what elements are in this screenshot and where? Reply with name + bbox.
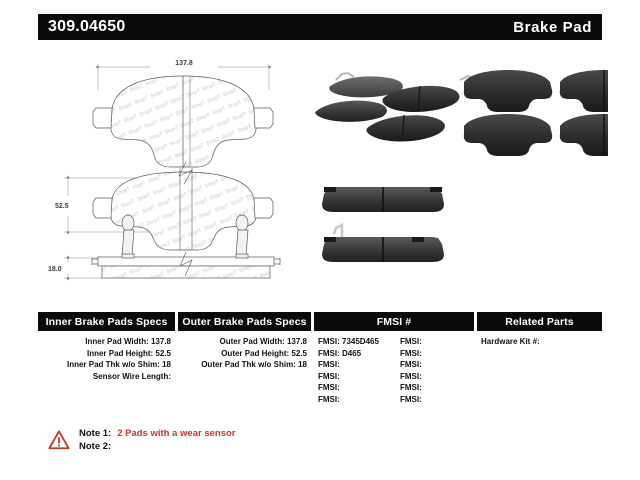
- inner-spec-row: Inner Pad Width: 137.8: [38, 336, 175, 348]
- fmsi-row: FMSI:: [314, 359, 392, 371]
- inner-spec-row: Sensor Wire Length:: [38, 371, 175, 383]
- spec-table-header-row: Inner Brake Pads Specs Outer Brake Pads …: [38, 312, 602, 331]
- note-2-row: Note 2:: [79, 441, 235, 452]
- column-header-related-parts: Related Parts: [477, 312, 602, 331]
- product-photo-panel: [312, 52, 608, 290]
- pad-edge-view: [92, 257, 280, 278]
- wear-sensor-clip-left: [122, 215, 134, 258]
- note-2-label: Note 2:: [79, 441, 111, 452]
- fmsi-row: FMSI:: [396, 382, 474, 394]
- spec-table: Inner Brake Pads Specs Outer Brake Pads …: [38, 312, 602, 405]
- header-bar: 309.04650 Brake Pad: [38, 14, 602, 40]
- spec-table-body: Inner Pad Width: 137.8 Inner Pad Height:…: [38, 331, 602, 405]
- related-parts-column: Hardware Kit #:: [477, 336, 602, 405]
- photo-topdown-pad-1: [464, 70, 552, 112]
- part-number: 309.04650: [48, 18, 125, 36]
- spec-sheet-page: 309.04650 Brake Pad StopT: [0, 0, 640, 480]
- inner-spec-row: Inner Pad Height: 52.5: [38, 348, 175, 360]
- note-rows: Note 1: 2 Pads with a wear sensor Note 2…: [79, 428, 235, 452]
- fmsi-row: FMSI:: [396, 348, 474, 360]
- dim-thickness-label: 18.0: [48, 266, 62, 273]
- fmsi-row: FMSI:: [396, 336, 474, 348]
- pad-front-view: [111, 76, 256, 167]
- outer-specs-column: Outer Pad Width: 137.8 Outer Pad Height:…: [178, 336, 311, 405]
- inner-specs-column: Inner Pad Width: 137.8 Inner Pad Height:…: [38, 336, 175, 405]
- dim-width-label: 137.8: [175, 60, 193, 67]
- fmsi-row: FMSI: 7345D465: [314, 336, 392, 348]
- brake-pad-drawing-svg: StopT 137.8: [40, 50, 305, 290]
- note-1-value: 2 Pads with a wear sensor: [117, 428, 235, 439]
- fmsi-subcolumn-left: FMSI: 7345D465 FMSI: D465 FMSI: FMSI: FM…: [314, 336, 392, 405]
- fmsi-row: FMSI:: [396, 394, 474, 406]
- fmsi-row: FMSI:: [314, 394, 392, 406]
- note-1-label: Note 1:: [79, 428, 111, 439]
- column-header-outer-specs: Outer Brake Pads Specs: [178, 312, 311, 331]
- notes-section: Note 1: 2 Pads with a wear sensor Note 2…: [48, 428, 235, 452]
- fmsi-row: FMSI:: [314, 382, 392, 394]
- fmsi-row: FMSI: D465: [314, 348, 392, 360]
- photo-topdown-pad-4: [560, 114, 608, 156]
- dim-height-label: 52.5: [55, 203, 69, 210]
- page-title: Brake Pad: [513, 19, 592, 36]
- fmsi-subcolumn-right: FMSI: FMSI: FMSI: FMSI: FMSI: FMSI:: [396, 336, 474, 405]
- product-photos-svg: [312, 52, 608, 290]
- photo-perspective-group: [315, 73, 459, 142]
- column-header-inner-specs: Inner Brake Pads Specs: [38, 312, 175, 331]
- outer-spec-row: Outer Pad Width: 137.8: [178, 336, 311, 348]
- technical-drawing-panel: StopT 137.8: [40, 50, 305, 290]
- photo-topdown-group: [460, 70, 608, 156]
- fmsi-row: FMSI:: [314, 371, 392, 383]
- photo-topdown-pad-2: [560, 70, 608, 112]
- photo-pad-2: [315, 101, 387, 122]
- warning-triangle-icon: [48, 429, 70, 451]
- fmsi-row: FMSI:: [396, 359, 474, 371]
- note-1-row: Note 1: 2 Pads with a wear sensor: [79, 428, 235, 439]
- photo-edge-group: [322, 187, 444, 262]
- related-part-row: Hardware Kit #:: [477, 336, 602, 348]
- outer-spec-row: Outer Pad Height: 52.5: [178, 348, 311, 360]
- outer-spec-row: Outer Pad Thk w/o Shim: 18: [178, 359, 311, 371]
- wear-sensor-clip-right: [236, 215, 248, 258]
- photo-pad-4: [366, 115, 444, 141]
- column-header-fmsi: FMSI #: [314, 312, 474, 331]
- fmsi-row: FMSI:: [396, 371, 474, 383]
- inner-spec-row: Inner Pad Thk w/o Shim: 18: [38, 359, 175, 371]
- fmsi-column: FMSI: 7345D465 FMSI: D465 FMSI: FMSI: FM…: [314, 336, 474, 405]
- photo-topdown-pad-3: [464, 114, 552, 156]
